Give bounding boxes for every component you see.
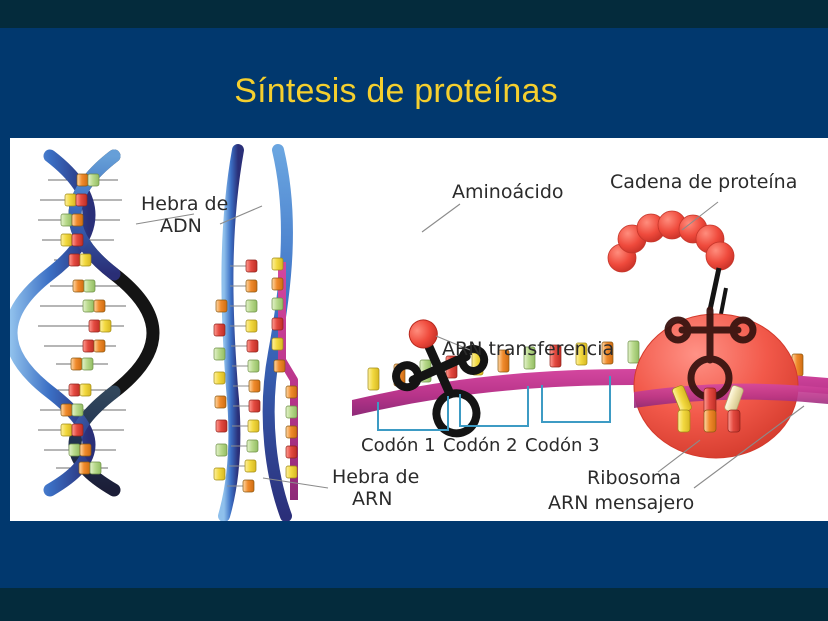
label-dna-strand-line1: Hebra de: [141, 193, 228, 215]
slide-title: Síntesis de proteínas: [0, 72, 828, 111]
slide-canvas: Síntesis de proteínas: [0, 0, 828, 621]
protein-synthesis-illustration: Hebra de ADN Hebra de ARN Aminoácido ARN…: [10, 138, 828, 521]
label-protein-chain: Cadena de proteína: [610, 171, 797, 193]
amino-acid-bead: [405, 315, 442, 352]
label-rna-strand-line1: Hebra de: [332, 466, 419, 488]
label-dna-strand-line2: ADN: [160, 215, 202, 237]
label-amino-acid: Aminoácido: [452, 181, 564, 203]
label-ribosome: Ribosoma: [587, 467, 681, 489]
dna-double-helix: [11, 156, 153, 490]
label-codon-3: Codón 3: [525, 435, 600, 456]
label-transfer-rna: ARN transferencia: [442, 338, 614, 360]
label-rna-strand-line2: ARN: [352, 488, 392, 510]
label-messenger-rna: ARN mensajero: [548, 492, 694, 514]
bottom-accent-band: [0, 588, 828, 621]
top-accent-band: [0, 0, 828, 28]
label-codon-2: Codón 2: [443, 435, 518, 456]
protein-chain: [608, 211, 734, 272]
ribosome-complex: [608, 211, 828, 458]
diagram-panel: Hebra de ADN Hebra de ARN Aminoácido ARN…: [10, 138, 828, 521]
label-codon-1: Codón 1: [361, 435, 436, 456]
anticodon-pegs: [672, 385, 745, 432]
slide-title-text: Síntesis de proteínas: [234, 72, 558, 110]
